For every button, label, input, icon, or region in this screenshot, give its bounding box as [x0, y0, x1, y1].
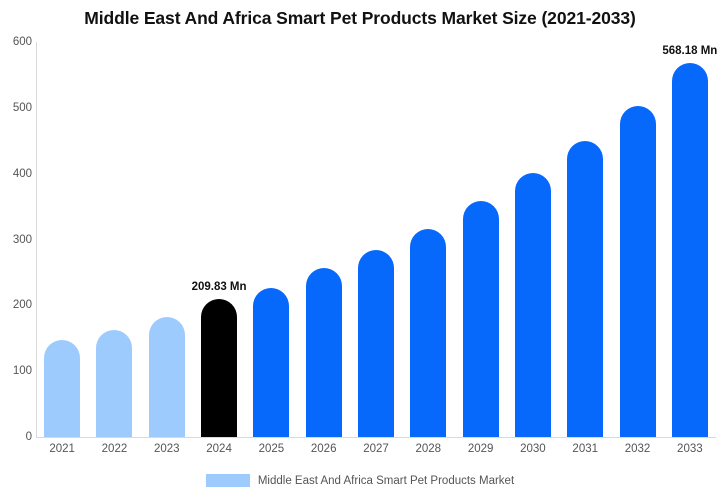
chart-bar[interactable] [306, 268, 342, 437]
y-axis-tick-label: 500 [2, 102, 32, 114]
bar-value-label: 209.83 Mn [174, 281, 264, 293]
x-axis-line [36, 437, 716, 438]
y-axis-tick-label: 100 [2, 365, 32, 377]
chart-bar[interactable] [44, 340, 80, 437]
x-axis-tick-label: 2029 [453, 443, 509, 455]
bar-slot [253, 42, 289, 437]
x-axis-tick-label: 2028 [400, 443, 456, 455]
chart-bar[interactable] [410, 229, 446, 437]
chart-bar[interactable] [253, 288, 289, 437]
chart-bar[interactable] [672, 63, 708, 437]
chart-bar[interactable] [620, 106, 656, 437]
x-axis-tick-label: 2030 [505, 443, 561, 455]
y-axis-tick-label: 300 [2, 234, 32, 246]
bar-value-label: 568.18 Mn [645, 45, 720, 57]
bar-slot [149, 42, 185, 437]
chart-bar[interactable] [567, 141, 603, 437]
x-axis-tick-label: 2027 [348, 443, 404, 455]
chart-bar[interactable] [515, 173, 551, 437]
y-axis-tick-label: 400 [2, 168, 32, 180]
x-axis-tick-label: 2026 [296, 443, 352, 455]
y-axis-tick-label: 0 [2, 431, 32, 443]
x-axis-tick-label: 2033 [662, 443, 718, 455]
chart-legend: Middle East And Africa Smart Pet Product… [0, 474, 720, 487]
bar-slot [96, 42, 132, 437]
x-axis-tick-label: 2021 [34, 443, 90, 455]
chart-title: Middle East And Africa Smart Pet Product… [0, 8, 720, 29]
plot-area [36, 42, 716, 437]
bar-slot [620, 42, 656, 437]
bar-slot [463, 42, 499, 437]
chart-container: Middle East And Africa Smart Pet Product… [0, 0, 720, 500]
bar-slot [672, 42, 708, 437]
bar-slot [358, 42, 394, 437]
bar-slot [515, 42, 551, 437]
y-axis-tick-label: 200 [2, 299, 32, 311]
y-axis-tick-label: 600 [2, 36, 32, 48]
legend-label: Middle East And Africa Smart Pet Product… [258, 475, 514, 487]
x-axis-tick-label: 2023 [139, 443, 195, 455]
bar-slot [410, 42, 446, 437]
bar-slot [44, 42, 80, 437]
chart-bar[interactable] [358, 250, 394, 437]
bar-slot [567, 42, 603, 437]
y-axis-tick-labels: 0100200300400500600 [0, 0, 32, 500]
x-axis-tick-label: 2031 [557, 443, 613, 455]
chart-bar[interactable] [149, 317, 185, 437]
x-axis-tick-label: 2032 [610, 443, 666, 455]
chart-bar[interactable] [201, 299, 237, 437]
x-axis-tick-label: 2024 [191, 443, 247, 455]
x-axis-tick-label: 2022 [86, 443, 142, 455]
legend-swatch-icon [206, 474, 250, 487]
chart-bar[interactable] [463, 201, 499, 437]
chart-bar[interactable] [96, 330, 132, 437]
bar-slot [201, 42, 237, 437]
x-axis-tick-label: 2025 [243, 443, 299, 455]
bar-slot [306, 42, 342, 437]
